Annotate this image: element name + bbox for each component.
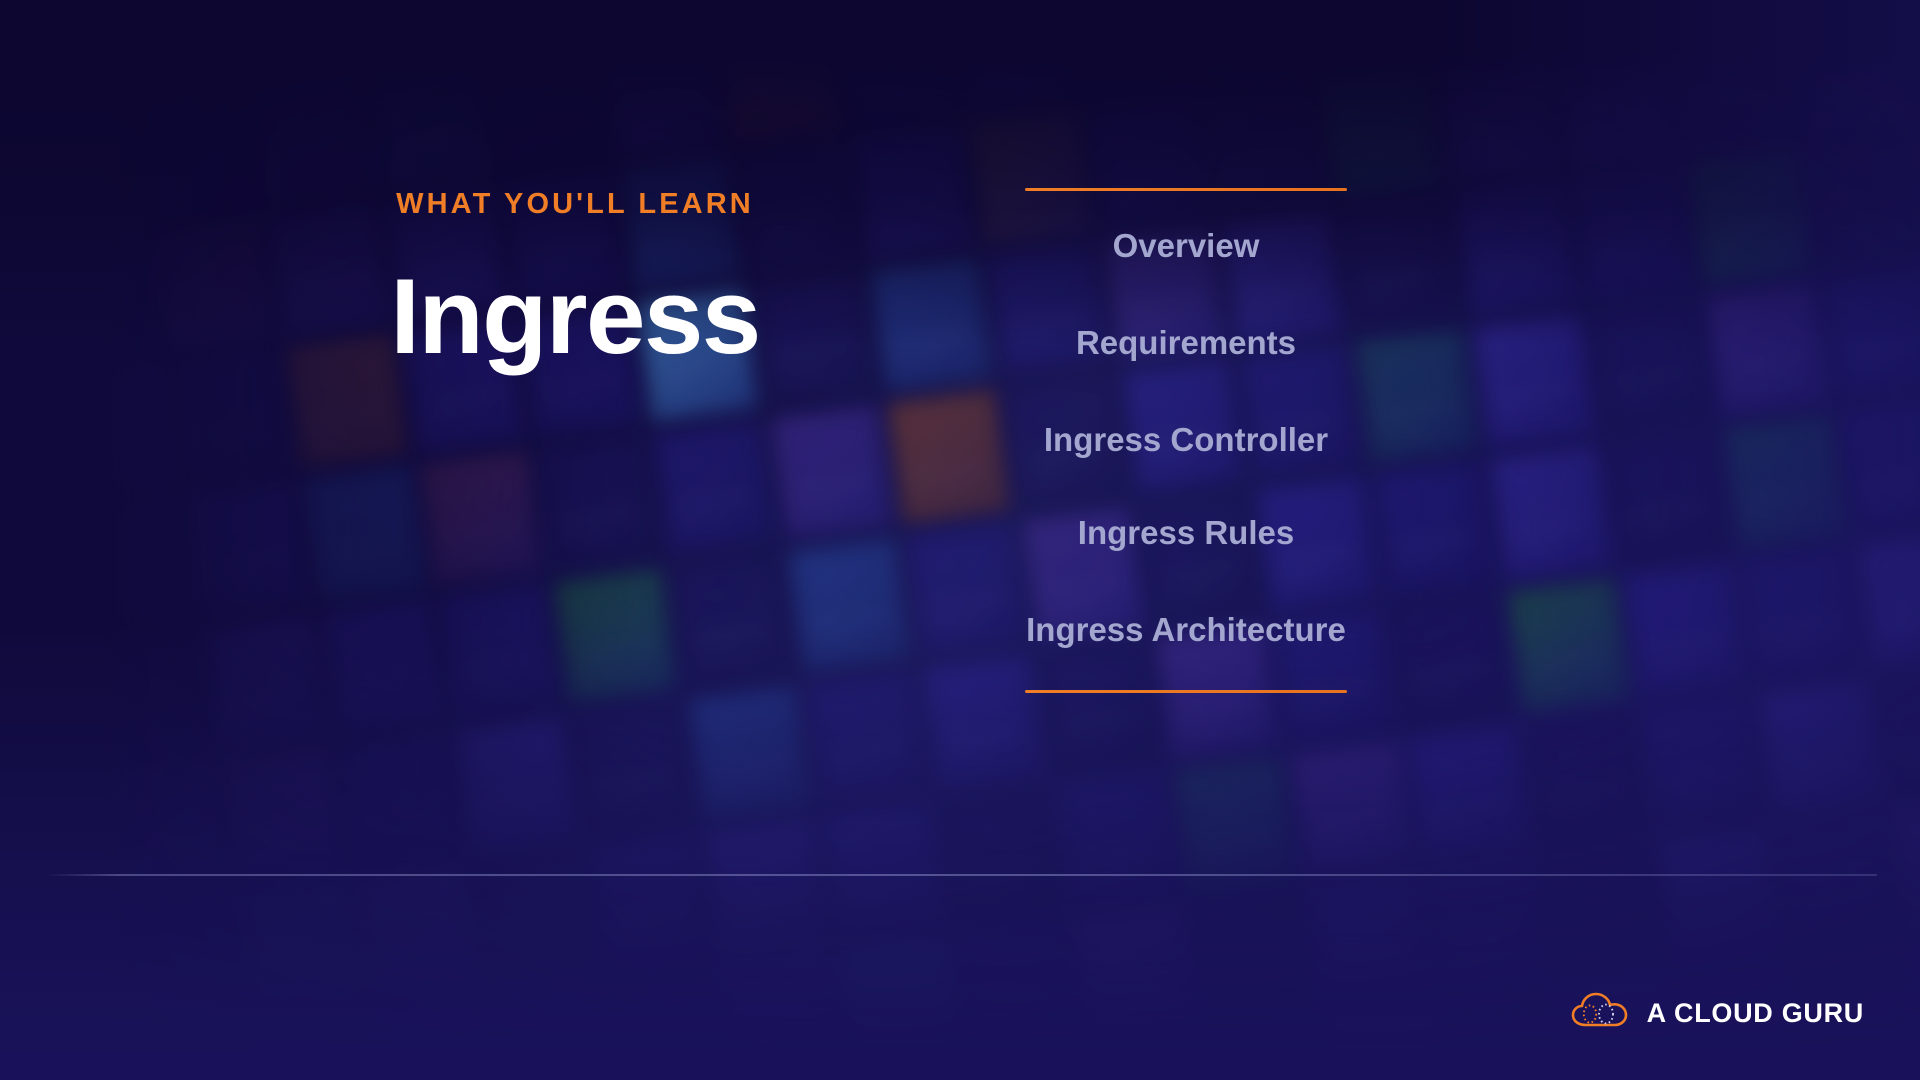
agenda-item-overview[interactable]: Overview xyxy=(1025,229,1347,262)
brand-logo: A CLOUD GURU xyxy=(1570,991,1864,1036)
agenda-list: Overview Requirements Ingress Controller… xyxy=(1025,229,1355,646)
cloud-icon xyxy=(1570,991,1630,1036)
brand-logo-text: A CLOUD GURU xyxy=(1647,998,1864,1029)
agenda-item-ingress-controller[interactable]: Ingress Controller xyxy=(1025,423,1347,456)
title-block: WHAT YOU'LL LEARN Ingress xyxy=(370,190,1070,370)
agenda-item-requirements[interactable]: Requirements xyxy=(1025,326,1347,359)
agenda-item-ingress-rules[interactable]: Ingress Rules xyxy=(1025,516,1347,549)
horizontal-divider xyxy=(45,874,1877,876)
agenda-item-ingress-architecture[interactable]: Ingress Architecture xyxy=(1025,613,1347,646)
slide-content: WHAT YOU'LL LEARN Ingress Overview Requi… xyxy=(0,0,1920,1080)
agenda-divider-top xyxy=(1025,188,1347,191)
eyebrow-label: WHAT YOU'LL LEARN xyxy=(370,190,780,219)
presentation-slide: WHAT YOU'LL LEARN Ingress Overview Requi… xyxy=(0,0,1920,1080)
agenda-panel: Overview Requirements Ingress Controller… xyxy=(1025,188,1355,693)
agenda-divider-bottom xyxy=(1025,690,1347,693)
page-title: Ingress xyxy=(370,263,780,370)
